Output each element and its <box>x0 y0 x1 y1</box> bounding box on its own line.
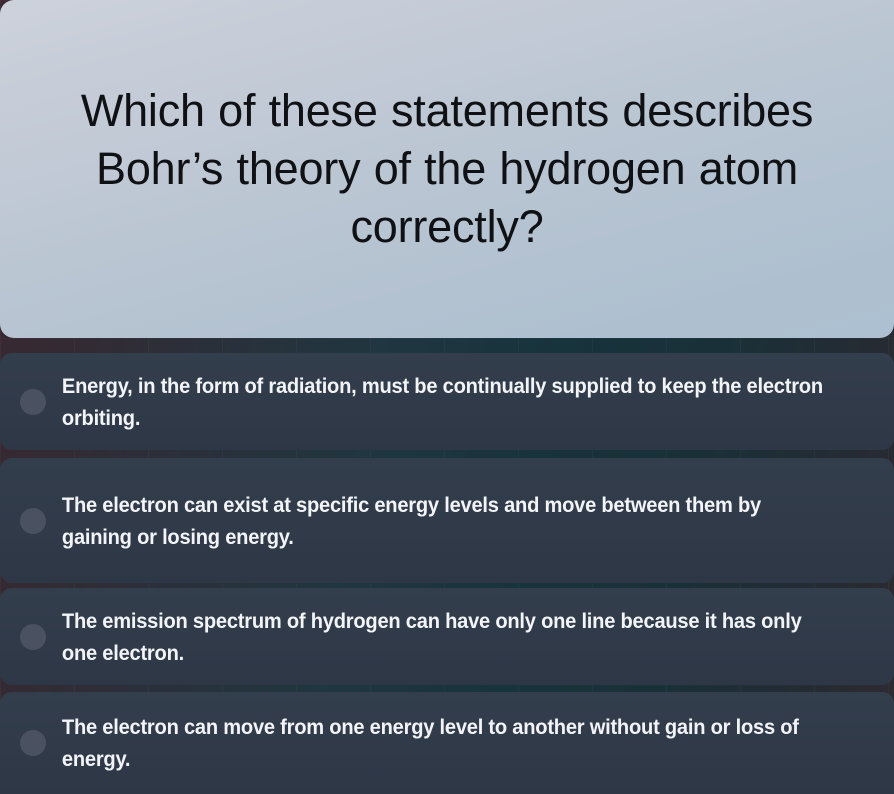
answer-option-2[interactable]: The electron can exist at specific energ… <box>0 458 894 583</box>
answer-option-label: Energy, in the form of radiation, must b… <box>46 370 839 434</box>
radio-button-icon[interactable] <box>20 730 46 756</box>
answer-option-label: The electron can move from one energy le… <box>46 711 839 775</box>
answer-option-1[interactable]: Energy, in the form of radiation, must b… <box>0 353 894 450</box>
answer-option-label: The electron can exist at specific energ… <box>46 489 839 553</box>
quiz-screen: Which of these statements describes Bohr… <box>0 0 894 794</box>
question-text: Which of these statements describes Bohr… <box>14 82 880 256</box>
answer-option-label: The emission spectrum of hydrogen can ha… <box>46 605 839 669</box>
question-header: Which of these statements describes Bohr… <box>0 0 894 338</box>
radio-button-icon[interactable] <box>20 508 46 534</box>
radio-button-icon[interactable] <box>20 624 46 650</box>
answer-option-4[interactable]: The electron can move from one energy le… <box>0 692 894 794</box>
radio-button-icon[interactable] <box>20 389 46 415</box>
answer-option-3[interactable]: The emission spectrum of hydrogen can ha… <box>0 588 894 685</box>
